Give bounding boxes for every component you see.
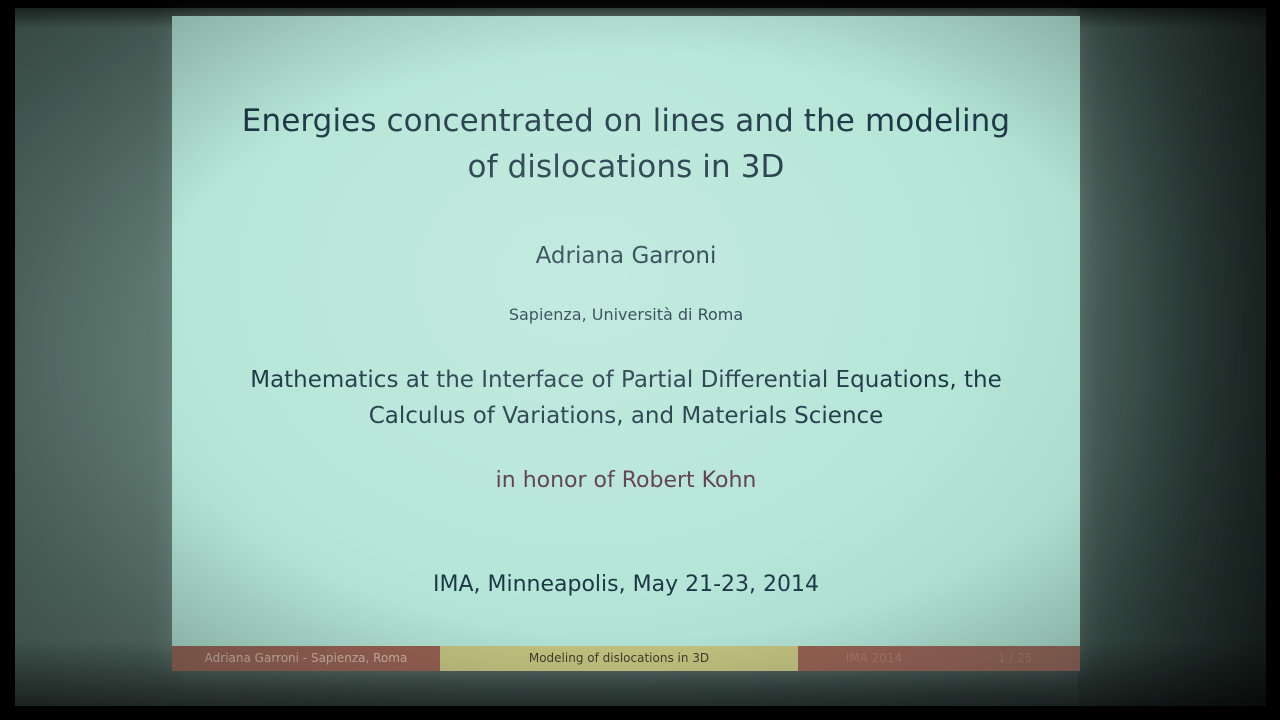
slide-conference-name: Mathematics at the Interface of Partial … bbox=[224, 362, 1028, 434]
presentation-slide: Energies concentrated on lines and the m… bbox=[172, 16, 1080, 671]
footer-page-number: 1 / 25 bbox=[998, 646, 1033, 671]
footer-meta-section: IMA 2014 1 / 25 bbox=[798, 646, 1080, 671]
slide-footer-bar: Adriana Garroni - Sapienza, Roma Modelin… bbox=[172, 646, 1080, 671]
projection-room: Energies concentrated on lines and the m… bbox=[0, 0, 1280, 720]
slide-title: Energies concentrated on lines and the m… bbox=[224, 98, 1028, 190]
slide-content: Energies concentrated on lines and the m… bbox=[172, 16, 1080, 629]
footer-author-section: Adriana Garroni - Sapienza, Roma bbox=[172, 646, 440, 671]
slide-affiliation: Sapienza, Università di Roma bbox=[226, 305, 1026, 324]
footer-title-section: Modeling of dislocations in 3D bbox=[440, 646, 798, 671]
footer-institution: IMA 2014 bbox=[846, 646, 902, 671]
wall-right-shadow bbox=[1078, 8, 1266, 706]
slide-dedication: in honor of Robert Kohn bbox=[226, 468, 1026, 493]
slide-author: Adriana Garroni bbox=[226, 243, 1026, 269]
slide-venue-date: IMA, Minneapolis, May 21-23, 2014 bbox=[226, 572, 1026, 597]
